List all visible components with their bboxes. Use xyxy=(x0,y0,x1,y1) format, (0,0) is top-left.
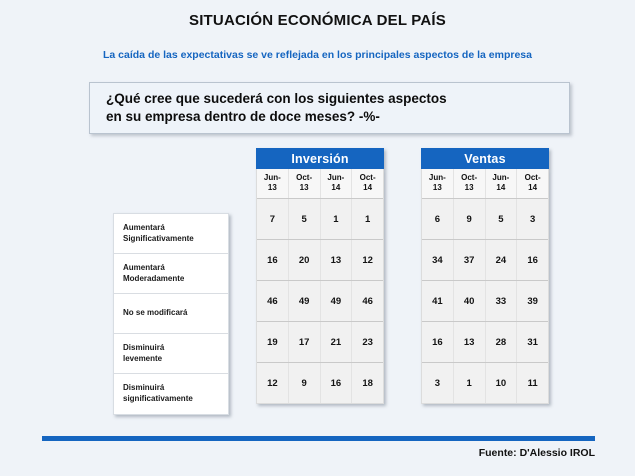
table-cell: 21 xyxy=(321,322,353,362)
table-cell: 13 xyxy=(321,240,353,280)
table-cell: 16 xyxy=(517,240,548,280)
footer-source: Fuente: D'Alessio IROL xyxy=(479,447,595,459)
table-cell: 11 xyxy=(517,363,548,403)
column-header-row: Jun- 13Oct- 13Jun- 14Oct- 14 xyxy=(257,169,383,199)
table-cell: 37 xyxy=(454,240,486,280)
table-body: Jun- 13Oct- 13Jun- 14Oct- 14751116201312… xyxy=(256,169,384,404)
table-cell: 28 xyxy=(486,322,518,362)
table-cell: 12 xyxy=(352,240,383,280)
row-label: Aumentará Moderadamente xyxy=(114,254,228,294)
row-label: Disminuirá levemente xyxy=(114,334,228,374)
table-row: 7511 xyxy=(257,199,383,240)
table-cell: 23 xyxy=(352,322,383,362)
table-row: 6953 xyxy=(422,199,548,240)
table-body: Jun- 13Oct- 13Jun- 14Oct- 14695334372416… xyxy=(421,169,549,404)
table-row: 16201312 xyxy=(257,240,383,281)
column-header: Jun- 13 xyxy=(422,169,454,198)
table-cell: 3 xyxy=(517,199,548,239)
row-label-panel: Aumentará SignificativamenteAumentará Mo… xyxy=(113,213,229,415)
table-cell: 16 xyxy=(321,363,353,403)
table-cell: 16 xyxy=(257,240,289,280)
table-cell: 9 xyxy=(289,363,321,403)
table-cell: 1 xyxy=(352,199,383,239)
table-cell: 39 xyxy=(517,281,548,321)
row-label: Disminuirá significativamente xyxy=(114,374,228,414)
page-subtitle: La caída de las expectativas se ve refle… xyxy=(0,49,635,61)
column-header: Jun- 13 xyxy=(257,169,289,198)
column-header: Oct- 14 xyxy=(352,169,383,198)
table-ventas: VentasJun- 13Oct- 13Jun- 14Oct- 14695334… xyxy=(421,148,549,404)
table-cell: 49 xyxy=(321,281,353,321)
question-box: ¿Qué cree que sucederá con los siguiente… xyxy=(89,82,570,134)
column-header: Oct- 13 xyxy=(289,169,321,198)
table-cell: 6 xyxy=(422,199,454,239)
table-cell: 12 xyxy=(257,363,289,403)
table-cell: 24 xyxy=(486,240,518,280)
table-cell: 10 xyxy=(486,363,518,403)
table-row: 19172123 xyxy=(257,322,383,363)
table-row: 16132831 xyxy=(422,322,548,363)
table-cell: 13 xyxy=(454,322,486,362)
table-cell: 7 xyxy=(257,199,289,239)
table-cell: 5 xyxy=(486,199,518,239)
table-cell: 19 xyxy=(257,322,289,362)
table-cell: 18 xyxy=(352,363,383,403)
table-cell: 16 xyxy=(422,322,454,362)
table-row: 1291618 xyxy=(257,363,383,403)
table-cell: 5 xyxy=(289,199,321,239)
row-label: No se modificará xyxy=(114,294,228,334)
table-row: 46494946 xyxy=(257,281,383,322)
table-cell: 17 xyxy=(289,322,321,362)
table-cell: 41 xyxy=(422,281,454,321)
table-header-ventas: Ventas xyxy=(421,148,549,169)
page-title: SITUACIÓN ECONÓMICA DEL PAÍS xyxy=(0,12,635,29)
table-cell: 46 xyxy=(352,281,383,321)
table-row: 34372416 xyxy=(422,240,548,281)
table-cell: 31 xyxy=(517,322,548,362)
row-label: Aumentará Significativamente xyxy=(114,214,228,254)
table-cell: 3 xyxy=(422,363,454,403)
slide-root: { "slide": { "title": "SITUACIÓN ECONÓMI… xyxy=(0,0,635,476)
column-header: Jun- 14 xyxy=(321,169,353,198)
column-header: Jun- 14 xyxy=(486,169,518,198)
table-row: 41403339 xyxy=(422,281,548,322)
table-cell: 34 xyxy=(422,240,454,280)
table-cell: 9 xyxy=(454,199,486,239)
table-cell: 46 xyxy=(257,281,289,321)
table-cell: 49 xyxy=(289,281,321,321)
question-text: ¿Qué cree que sucederá con los siguiente… xyxy=(106,90,447,126)
table-inversion: InversiónJun- 13Oct- 13Jun- 14Oct- 14751… xyxy=(256,148,384,404)
footer-divider xyxy=(42,436,595,441)
table-cell: 20 xyxy=(289,240,321,280)
column-header: Oct- 13 xyxy=(454,169,486,198)
column-header: Oct- 14 xyxy=(517,169,548,198)
table-header-inversión: Inversión xyxy=(256,148,384,169)
table-cell: 1 xyxy=(454,363,486,403)
column-header-row: Jun- 13Oct- 13Jun- 14Oct- 14 xyxy=(422,169,548,199)
table-cell: 40 xyxy=(454,281,486,321)
table-cell: 33 xyxy=(486,281,518,321)
table-cell: 1 xyxy=(321,199,353,239)
table-row: 311011 xyxy=(422,363,548,403)
